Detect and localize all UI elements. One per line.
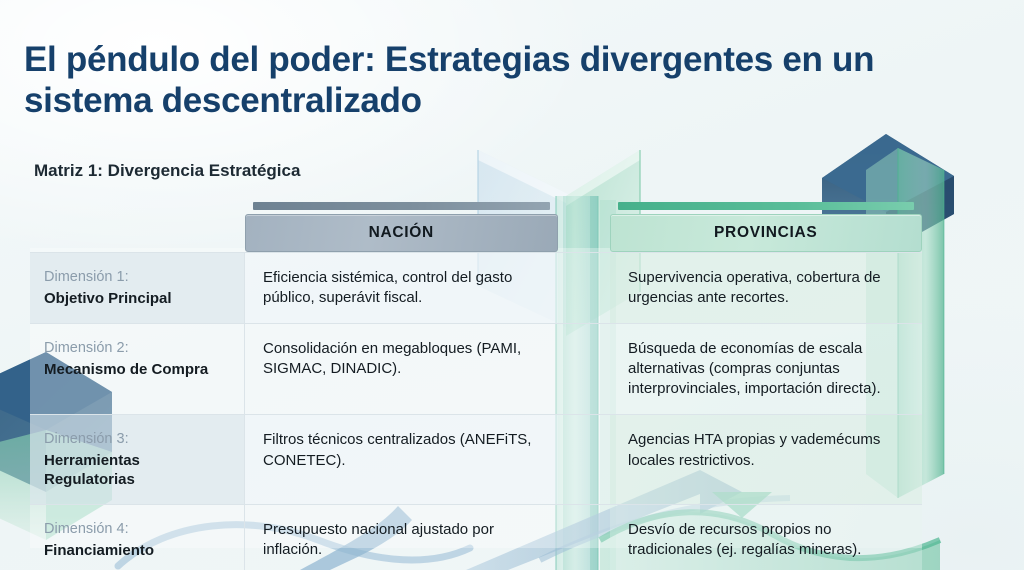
page-title: El péndulo del poder: Estrategias diverg… [24,40,924,122]
dimension-index-label: Dimensión 1: [44,268,230,288]
provincias-cell: Búsqueda de economías de escala alternat… [610,324,922,414]
dimension-title: Mecanismo de Compra [44,360,230,379]
table-row: Dimensión 3: Herramientas Regulatorias F… [30,414,922,504]
nacion-accent-bar [253,202,550,210]
dimension-index-label: Dimensión 2: [44,339,230,359]
matrix-caption: Matriz 1: Divergencia Estratégica [34,161,300,181]
provincias-cell: Agencias HTA propias y vademécums locale… [610,415,922,504]
dimension-index-label: Dimensión 3: [44,430,230,450]
dimension-cell: Dimensión 4: Financiamiento [30,505,245,570]
dimension-cell: Dimensión 2: Mecanismo de Compra [30,324,245,414]
slide-canvas: El péndulo del poder: Estrategias diverg… [0,0,1024,570]
column-header-nacion: NACIÓN [245,214,558,252]
table-row: Dimensión 2: Mecanismo de Compra Consoli… [30,323,922,414]
dimension-title: Financiamiento [44,541,230,560]
provincias-cell: Desvío de recursos propios no tradiciona… [610,505,922,570]
table-body: Dimensión 1: Objetivo Principal Eficienc… [30,252,922,570]
dimension-index-label: Dimensión 4: [44,520,230,540]
nacion-cell: Consolidación en megabloques (PAMI, SIGM… [245,324,558,414]
column-header-provincias: PROVINCIAS [610,214,923,252]
provincias-accent-bar [618,202,915,210]
divergence-matrix-table: NACIÓN PROVINCIAS Dimensión 1: Objetivo … [30,200,922,545]
provincias-cell: Supervivencia operativa, cobertura de ur… [610,253,922,323]
table-header-row: NACIÓN PROVINCIAS [30,200,922,252]
table-row: Dimensión 4: Financiamiento Presupuesto … [30,504,922,570]
header-spacer-dimension [30,200,245,252]
dimension-cell: Dimensión 3: Herramientas Regulatorias [30,415,245,504]
dimension-title: Objetivo Principal [44,289,230,308]
nacion-header-label: NACIÓN [245,214,558,252]
table-row: Dimensión 1: Objetivo Principal Eficienc… [30,252,922,323]
provincias-header-label: PROVINCIAS [610,214,923,252]
row-gap [558,505,610,570]
dimension-title: Herramientas Regulatorias [44,451,230,489]
row-gap [558,324,610,414]
dimension-cell: Dimensión 1: Objetivo Principal [30,253,245,323]
row-gap [558,415,610,504]
nacion-cell: Filtros técnicos centralizados (ANEFiTS,… [245,415,558,504]
nacion-cell: Eficiencia sistémica, control del gasto … [245,253,558,323]
row-gap [558,253,610,323]
nacion-cell: Presupuesto nacional ajustado por inflac… [245,505,558,570]
header-gap [558,200,610,252]
